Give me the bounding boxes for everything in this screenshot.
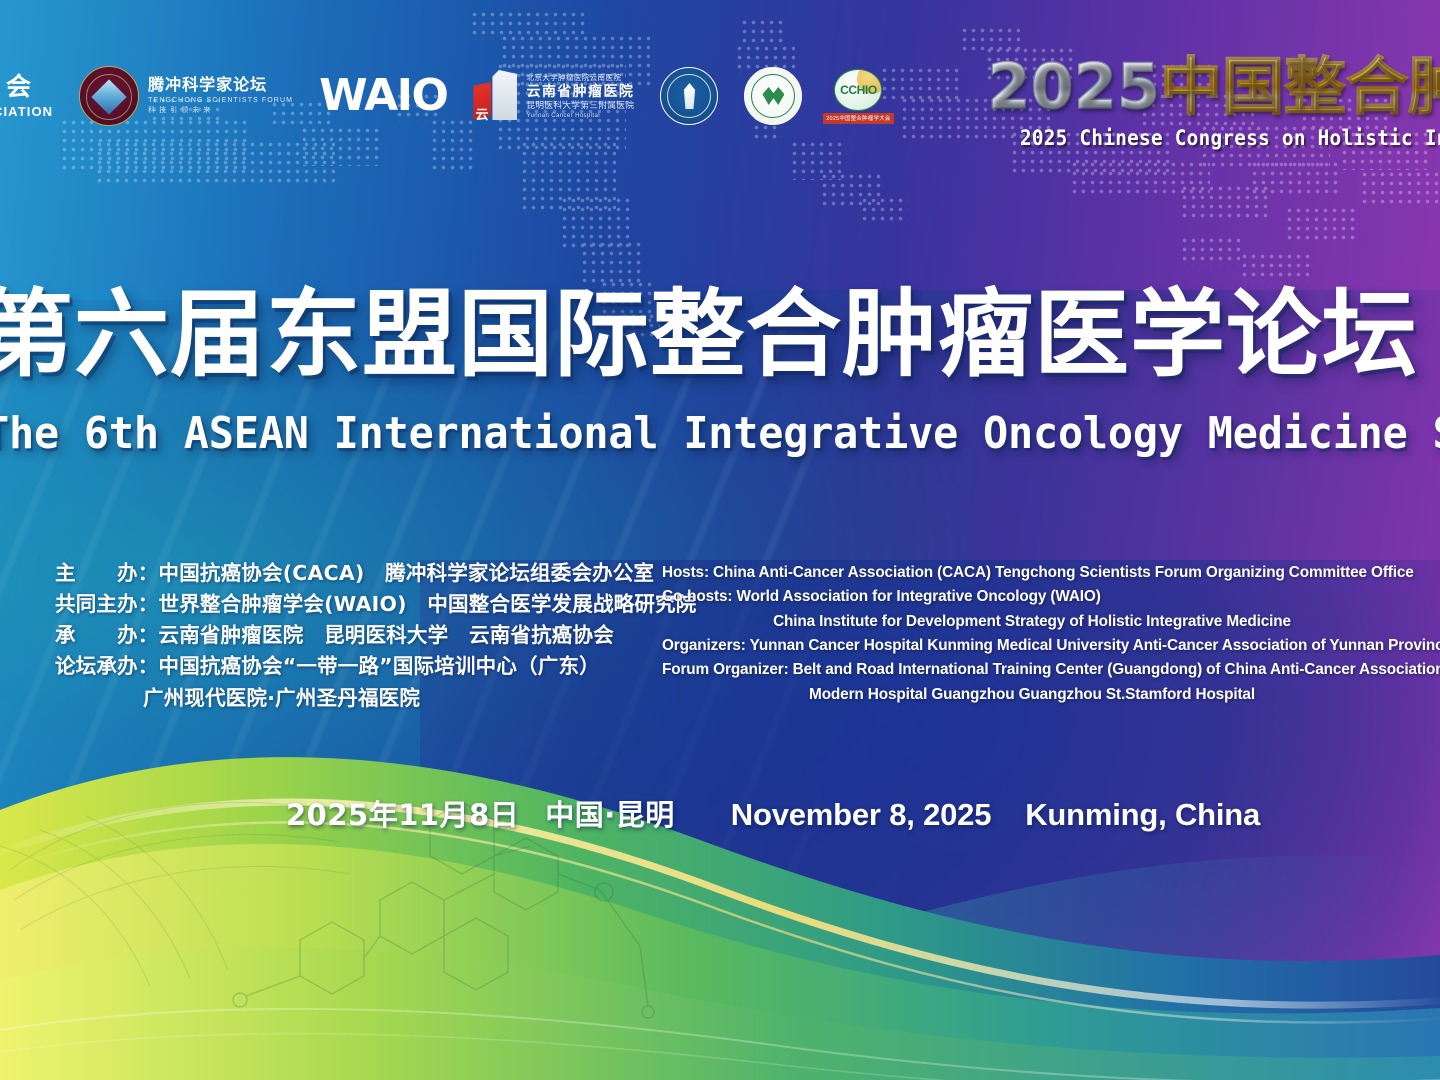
main-title-en: The 6th ASEAN International Integrative … [0,412,1440,456]
cchio-disc-icon: CCHIO [834,69,882,111]
yunnan-anti-cancer-association-logo [744,64,802,128]
date-cn: 2025年11月8日 [286,792,519,834]
caca-logo-cn: 协会 [0,75,53,100]
organizer-en-row: Modern Hospital Guangzhou Guangzhou St.S… [677,683,1387,707]
organizer-en-row: China Institute for Development Strategy… [677,610,1387,634]
organizer-cn-row: 承 办：云南省肿瘤医院 昆明医科大学 云南省抗癌协会 [55,620,696,651]
kmu-seal-icon [660,67,718,125]
yunnan-cancer-hospital-logo: 云 北京大学肿瘤医院云南医院 云南省肿瘤医院 昆明医科大学第三附属医院 Yunn… [473,64,634,128]
conference-banner: 协会 SOCIATION 腾冲科学家论坛 TENGCHONG SCIENTIST… [0,0,1440,1080]
organizer-cn-value: 中国抗癌协会“一带一路”国际培训中心（广东） [159,654,600,678]
tengchong-scientists-forum-logo: 腾冲科学家论坛 TENGCHONG SCIENTISTS FORUM 科技引领未… [79,64,293,128]
congress-title-cn: 2025中国整合肿瘤 [892,56,1440,118]
organizer-cn-row: 主 办：中国抗癌协会(CACA) 腾冲科学家论坛组委会办公室 [55,558,696,589]
yunnan-hospital-line4: Yunnan Cancer Hospital [526,113,634,119]
organizer-en-row: Organizers: Yunnan Cancer Hospital Kunmi… [662,634,1372,658]
congress-lockup: 2025中国整合肿瘤 2025 Chinese Congress on Holi… [892,56,1440,150]
organizer-cn-label: 主 办： [55,561,159,585]
organizer-cn-row: 共同主办：世界整合肿瘤学会(WAIO) 中国整合医学发展战略研究院 [55,589,696,620]
tengchong-logo-sub: 科技引领未来 [148,107,293,114]
yunnan-hospital-line1: 北京大学肿瘤医院云南医院 [526,74,634,82]
organizer-en-row: Hosts: China Anti-Cancer Association (CA… [662,561,1372,585]
cchio-wordmark: CCHIO [840,83,877,97]
organizer-cn-value: 世界整合肿瘤学会(WAIO) 中国整合医学发展战略研究院 [159,592,697,616]
organizer-cn-value: 中国抗癌协会(CACA) 腾冲科学家论坛组委会办公室 [159,561,655,585]
caca-logo-en: SOCIATION [0,105,53,118]
city-en: Kunming, China [1025,797,1260,833]
acay-seal-icon [744,67,802,125]
congress-title-han: 中国整合肿瘤 [1160,50,1440,123]
organizer-cn-row: 论坛承办：中国抗癌协会“一带一路”国际培训中心（广东） [55,651,696,682]
organizer-cn-value: 广州现代医院·广州圣丹福医院 [143,686,420,710]
organizer-cn-label: 共同主办： [55,592,159,616]
congress-title-year: 2025 [987,50,1160,123]
tengchong-logo-en: TENGCHONG SCIENTISTS FORUM [148,97,293,104]
organizer-cn-label: 承 办： [55,623,159,647]
dateline: 2025年11月8日 中国·昆明 November 8, 2025 Kunmin… [286,792,1260,834]
cchio-bar-label: 2025中国整合肿瘤学大会 [823,113,893,124]
tengchong-logo-cn: 腾冲科学家论坛 [148,78,293,94]
organizers-cn-block: 主 办：中国抗癌协会(CACA) 腾冲科学家论坛组委会办公室 共同主办：世界整合… [55,558,696,714]
caca-logo: 协会 SOCIATION [0,64,53,128]
organizer-en-row: Co-hosts: World Association for Integrat… [662,585,1372,609]
congress-title-en: 2025 Chinese Congress on Holistic Integr… [943,126,1440,150]
yunnan-hospital-line3: 昆明医科大学第三附属医院 [526,101,634,110]
waio-wordmark: WAIO [319,74,447,118]
main-title-cn: 第六届东盟国际整合肿瘤医学论坛 [0,288,1440,383]
kunming-medical-university-logo [660,64,718,128]
yunnan-hospital-line2: 云南省肿瘤医院 [526,84,634,98]
organizer-cn-label: 论坛承办： [55,654,159,678]
logo-bar: 协会 SOCIATION 腾冲科学家论坛 TENGCHONG SCIENTIST… [0,62,888,130]
organizer-cn-row: 广州现代医院·广州圣丹福医院 [55,683,696,714]
organizers-en-block: Hosts: China Anti-Cancer Association (CA… [662,561,1402,707]
yunnan-hospital-glyph-icon: 云 [473,70,519,122]
date-en: November 8, 2025 [731,797,991,833]
organizer-en-row: Forum Organizer: Belt and Road Internati… [662,658,1372,682]
cchio-logo: CCHIO 2025中国整合肿瘤学大会 [828,64,888,128]
waio-logo: WAIO [319,64,447,128]
organizer-cn-value: 云南省肿瘤医院 昆明医科大学 云南省抗癌协会 [159,623,614,647]
tengchong-badge-icon [79,66,139,126]
city-cn: 中国·昆明 [545,792,675,834]
